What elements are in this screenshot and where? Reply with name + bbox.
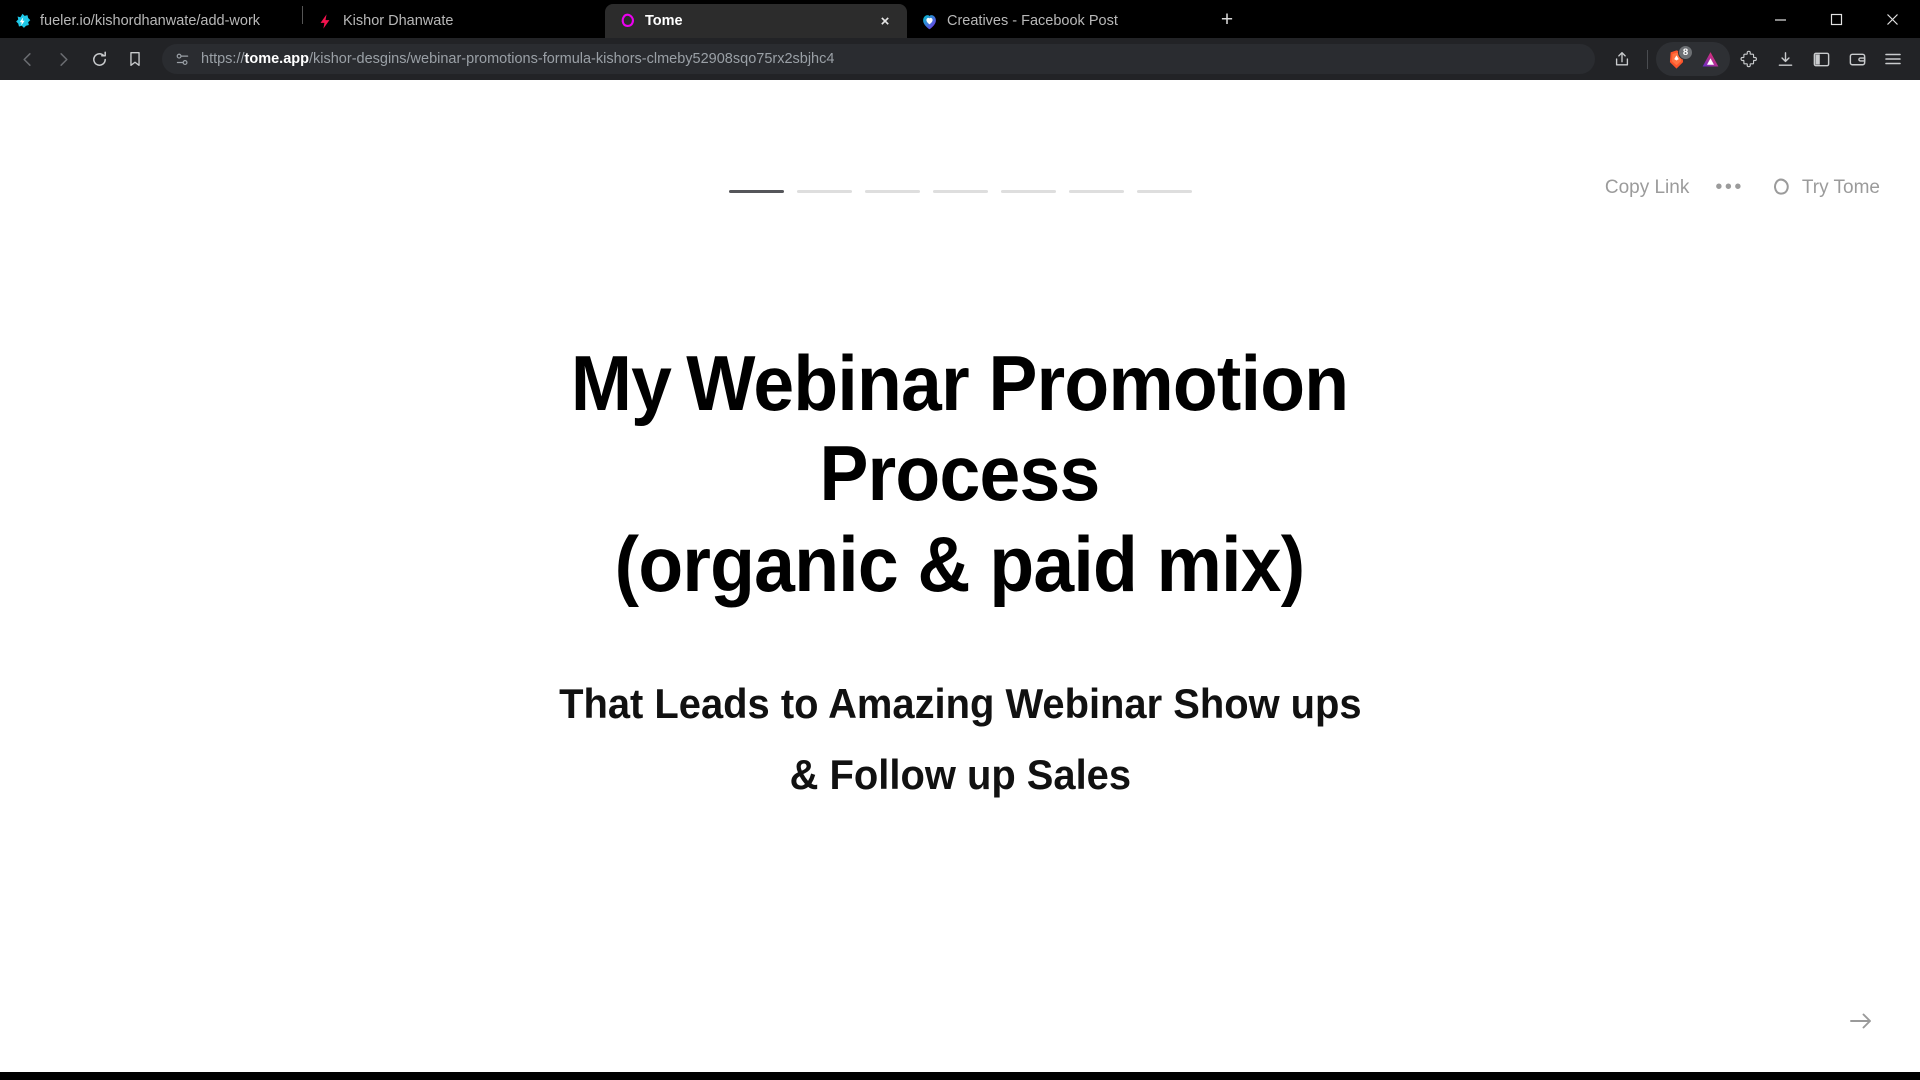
browser-window: fueler.io/kishordhanwate/add-work Kishor… xyxy=(0,0,1920,1080)
tab-title: Creatives - Facebook Post xyxy=(947,13,1197,29)
slide-subheadline: That Leads to Amazing Webinar Show ups &… xyxy=(559,669,1362,810)
brave-actions-group: 8 xyxy=(1656,42,1730,76)
url-host: tome.app xyxy=(245,51,309,67)
fueler-icon xyxy=(14,13,31,30)
slide-content: MyWebinar Promotion Process (organic & p… xyxy=(0,80,1920,1072)
subhead-line2: & Follow up Sales xyxy=(789,751,1130,798)
bookmark-icon[interactable] xyxy=(118,42,152,76)
download-icon[interactable] xyxy=(1768,42,1802,76)
wallet-icon[interactable] xyxy=(1840,42,1874,76)
url-path: /kishor-desgins/webinar-promotions-formu… xyxy=(309,51,834,67)
extensions-puzzle-icon[interactable] xyxy=(1732,42,1766,76)
tab-title: Tome xyxy=(645,13,866,29)
sidebar-panel-icon[interactable] xyxy=(1804,42,1838,76)
address-bar[interactable]: https://tome.app/kishor-desgins/webinar-… xyxy=(162,44,1595,74)
tab-fueler[interactable]: fueler.io/kishordhanwate/add-work xyxy=(0,4,302,38)
tab-tome[interactable]: Tome × xyxy=(605,4,907,38)
headline-line1-rest: Webinar Promotion xyxy=(687,339,1349,427)
maximize-button[interactable] xyxy=(1808,0,1864,38)
shields-blocked-count: 8 xyxy=(1678,45,1693,60)
subhead-line1: That Leads to Amazing Webinar Show ups xyxy=(559,680,1362,727)
browser-toolbar: https://tome.app/kishor-desgins/webinar-… xyxy=(0,38,1920,80)
close-window-button[interactable] xyxy=(1864,0,1920,38)
back-arrow-icon[interactable] xyxy=(10,42,44,76)
headline-line3: (organic & paid mix) xyxy=(615,520,1305,608)
toolbar-divider xyxy=(1647,50,1648,69)
site-settings-icon[interactable] xyxy=(174,51,191,68)
next-slide-button[interactable] xyxy=(1838,998,1884,1044)
lightning-bolt-icon xyxy=(317,13,334,30)
window-controls xyxy=(1752,0,1920,38)
bat-triangle-icon[interactable] xyxy=(1693,42,1727,76)
hamburger-menu-icon[interactable] xyxy=(1876,42,1910,76)
tome-presentation-viewer: Copy Link ••• Try Tome MyWebinar Promoti… xyxy=(0,80,1920,1072)
tab-title: fueler.io/kishordhanwate/add-work xyxy=(40,13,290,29)
tab-list: fueler.io/kishordhanwate/add-work Kishor… xyxy=(0,0,1752,38)
brave-shields-button[interactable]: 8 xyxy=(1659,42,1693,76)
url-scheme: https:// xyxy=(201,51,245,67)
headline-line2: Process xyxy=(820,429,1100,517)
forward-arrow-icon[interactable] xyxy=(46,42,80,76)
share-icon[interactable] xyxy=(1605,42,1639,76)
tab-kishor-dhanwate[interactable]: Kishor Dhanwate xyxy=(303,4,605,38)
toolbar-actions: 8 xyxy=(1605,42,1910,76)
screen-bottom-edge xyxy=(0,1072,1920,1080)
url-text[interactable]: https://tome.app/kishor-desgins/webinar-… xyxy=(201,51,834,67)
canva-heart-icon xyxy=(921,13,938,30)
tome-hexagon-icon xyxy=(619,13,636,30)
tab-creatives-facebook-post[interactable]: Creatives - Facebook Post xyxy=(907,4,1209,38)
minimize-button[interactable] xyxy=(1752,0,1808,38)
headline-word-my: My xyxy=(571,339,671,427)
tab-close-button[interactable]: × xyxy=(875,11,895,31)
tab-title: Kishor Dhanwate xyxy=(343,13,593,29)
reload-arrow-icon[interactable] xyxy=(82,42,116,76)
new-tab-button[interactable]: + xyxy=(1209,5,1245,35)
slide-headline: MyWebinar Promotion Process (organic & p… xyxy=(571,338,1348,609)
tab-strip: fueler.io/kishordhanwate/add-work Kishor… xyxy=(0,0,1920,38)
